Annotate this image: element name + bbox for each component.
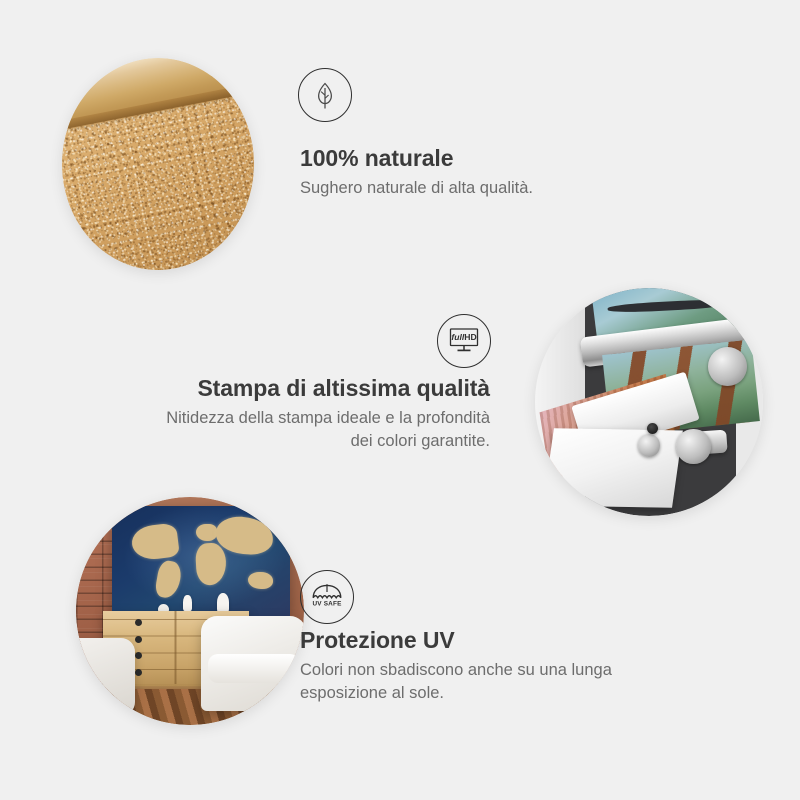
cork-texture-photo — [62, 58, 254, 270]
printing-machine-photo — [535, 288, 763, 516]
feature-title-uv-protection: Protezione UV — [300, 627, 672, 653]
uv-umbrella-icon: UV SAFE — [300, 570, 354, 624]
feature-title-print-quality: Stampa di altissima qualità — [160, 375, 490, 401]
feature-highlights-page: 100% naturale Sughero naturale di alta q… — [0, 0, 800, 800]
fullhd-monitor-icon: fullHD — [437, 314, 491, 368]
fullhd-label-italic: full — [451, 332, 464, 342]
uv-safe-label: UV SAFE — [312, 601, 342, 608]
feature-description-print-quality: Nitidezza della stampa ideale e la profo… — [160, 407, 490, 453]
feature-text-natural: 100% naturale Sughero naturale di alta q… — [300, 145, 533, 200]
feature-text-print-quality: Stampa di altissima qualità Nitidezza de… — [160, 375, 490, 453]
feature-description-natural: Sughero naturale di alta qualità. — [300, 177, 533, 200]
feature-title-natural: 100% naturale — [300, 145, 533, 171]
feature-description-uv-protection: Colori non sbadiscono anche su una lunga… — [300, 659, 672, 705]
feature-text-uv-protection: Protezione UV Colori non sbadiscono anch… — [300, 627, 672, 705]
svg-text:fullHD: fullHD — [451, 332, 476, 342]
leaf-icon — [298, 68, 352, 122]
room-world-map-photo — [76, 497, 304, 725]
fullhd-label-regular: HD — [464, 332, 476, 342]
